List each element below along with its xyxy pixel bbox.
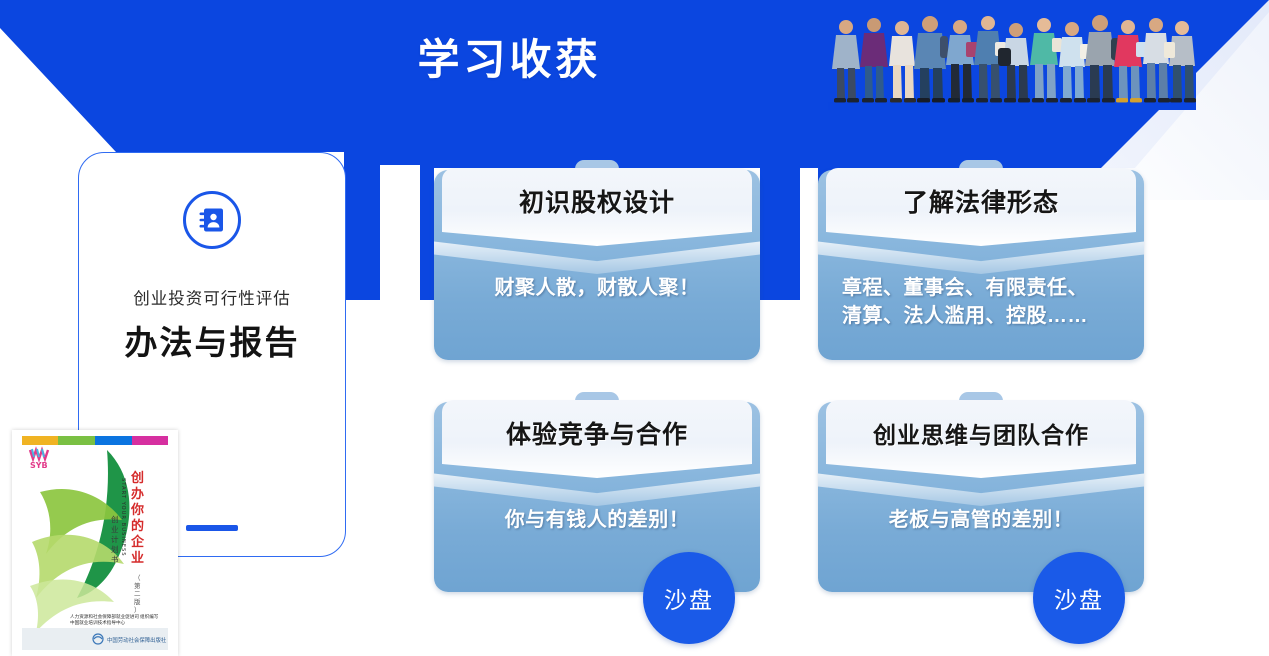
left-card-divider <box>186 525 238 531</box>
svg-text:人力资源和社会保障部就业促进司: 人力资源和社会保障部就业促进司 <box>70 613 139 620</box>
svg-text:二: 二 <box>134 590 141 598</box>
card-2-header: 了解法律形态 <box>826 168 1136 246</box>
left-card-subtitle: 创业投资可行性评估 <box>79 285 345 309</box>
card-1-description: 财聚人散，财散人聚！ <box>444 274 750 302</box>
page-title: 学习收获 <box>0 26 1269 87</box>
svg-text:START YOUR BUSINESS: START YOUR BUSINESS <box>120 478 126 557</box>
svg-text:创: 创 <box>111 514 119 524</box>
svg-text:业: 业 <box>111 524 119 534</box>
card-1-header: 初识股权设计 <box>442 168 752 246</box>
svg-text:）: ） <box>134 606 141 614</box>
topic-card-2[interactable]: 章程、董事会、有限责任、 清算、法人滥用、控股…… 了解法律形态 <box>818 160 1144 360</box>
card-4-description: 老板与高管的差别！ <box>828 506 1134 534</box>
card-1-title: 初识股权设计 <box>519 183 675 219</box>
svg-text:你: 你 <box>130 502 144 518</box>
svg-text:中国就业培训技术指导中心: 中国就业培训技术指导中心 <box>70 619 126 626</box>
svg-text:的: 的 <box>131 518 144 534</box>
slide-canvas: 学习收获 <box>0 0 1269 656</box>
address-book-icon <box>183 191 241 249</box>
svg-text:企: 企 <box>130 534 145 550</box>
book-cover-create-your-enterprise: SYB 创办你 的企业 START YOUR BUSINESS 创业计划书 （第… <box>12 430 178 656</box>
svg-text:办: 办 <box>131 486 144 502</box>
svg-text:（: （ <box>134 574 141 582</box>
svg-text:创: 创 <box>130 470 144 486</box>
svg-text:SYB: SYB <box>30 461 48 470</box>
card-3-header: 体验竞争与合作 <box>442 400 752 478</box>
svg-text:组织编写: 组织编写 <box>140 613 159 620</box>
svg-text:书: 书 <box>111 554 119 564</box>
card-3-description: 你与有钱人的差别！ <box>444 506 750 534</box>
svg-text:计: 计 <box>111 534 119 544</box>
sandbox-badge-card-3[interactable]: 沙盘 <box>643 552 735 644</box>
card-4-title: 创业思维与团队合作 <box>873 416 1089 450</box>
svg-text:业: 业 <box>131 550 144 566</box>
card-3-title: 体验竞争与合作 <box>506 415 688 451</box>
card-2-title: 了解法律形态 <box>903 183 1059 219</box>
topic-card-1[interactable]: 财聚人散，财散人聚！ 初识股权设计 <box>434 160 760 360</box>
card-4-header: 创业思维与团队合作 <box>826 400 1136 478</box>
left-card-title: 办法与报告 <box>79 316 345 364</box>
svg-text:划: 划 <box>111 544 119 554</box>
svg-text:第: 第 <box>134 581 141 590</box>
sandbox-badge-card-4[interactable]: 沙盘 <box>1033 552 1125 644</box>
svg-text:中国劳动社会保障出版社: 中国劳动社会保障出版社 <box>107 636 167 644</box>
svg-text:版: 版 <box>134 597 141 606</box>
card-2-description: 章程、董事会、有限责任、 清算、法人滥用、控股…… <box>828 274 1134 331</box>
